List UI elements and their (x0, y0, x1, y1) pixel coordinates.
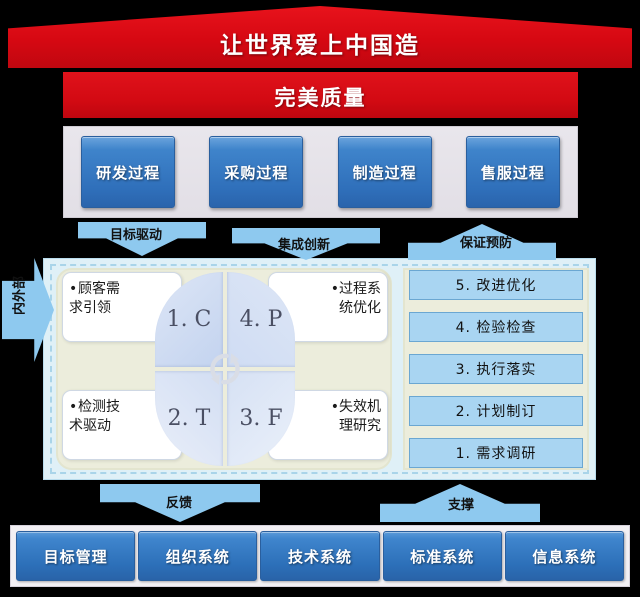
process-box-rd[interactable]: 研发过程 (81, 136, 175, 208)
guarantee-prevention-label: 保证预防 (460, 232, 512, 251)
support-label: 支撑 (448, 494, 474, 513)
diagram-canvas: 让世界爱上中国造 完美质量 研发过程 采购过程 制造过程 售服过程 目标驱动 集… (0, 0, 640, 597)
slogan-text: 让世界爱上中国造 (0, 26, 640, 60)
bullet-icon: • (69, 398, 78, 417)
process-strip: 研发过程 采购过程 制造过程 售服过程 (63, 126, 578, 218)
step-3-execution[interactable]: 3. 执行落实 (409, 354, 583, 384)
bullet-icon: • (330, 398, 339, 417)
step-2-plan-making[interactable]: 2. 计划制订 (409, 396, 583, 426)
step-5-improvement[interactable]: 5. 改进优化 (409, 270, 583, 300)
cycle-card-tl-line2: 求引领 (69, 300, 111, 316)
foundation-box-organization-system[interactable]: 组织系统 (138, 531, 257, 581)
step-1-demand-research[interactable]: 1. 需求调研 (409, 438, 583, 468)
internal-external-label: 内外部 (9, 266, 28, 326)
pdca-steps-list: 1. 需求调研 2. 计划制订 3. 执行落实 4. 检验检查 5. 改进优化 (409, 270, 583, 468)
process-box-purchase[interactable]: 采购过程 (209, 136, 303, 208)
cycle-card-tr-line2: 统优化 (339, 300, 381, 316)
cycle-card-tl-line1: 顾客需 (78, 281, 120, 297)
goal-driven-label: 目标驱动 (110, 224, 162, 243)
process-box-service[interactable]: 售服过程 (466, 136, 560, 208)
step-4-inspection[interactable]: 4. 检验检查 (409, 312, 583, 342)
cycle-card-br-line1: 失效机 (339, 399, 381, 415)
foundation-box-information-system[interactable]: 信息系统 (505, 531, 624, 581)
cycle-card-br-line2: 理研究 (339, 418, 381, 434)
circular-cycle-arrow-icon (204, 348, 246, 390)
process-box-manufacture[interactable]: 制造过程 (338, 136, 432, 208)
bullet-icon: • (330, 280, 339, 299)
feedback-label: 反馈 (166, 492, 192, 511)
cycle-card-tr-line1: 过程系 (339, 281, 381, 297)
ctfp-cycle-circle: 1. C 4. P 2. T 3. F (155, 272, 295, 466)
foundation-strip: 目标管理 组织系统 技术系统 标准系统 信息系统 (10, 525, 630, 587)
foundation-box-goal-management[interactable]: 目标管理 (16, 531, 135, 581)
bullet-icon: • (69, 280, 78, 299)
cycle-card-bl-line2: 术驱动 (69, 418, 111, 434)
foundation-box-technology-system[interactable]: 技术系统 (260, 531, 379, 581)
cycle-card-bl-line1: 检测技 (78, 399, 120, 415)
foundation-box-standard-system[interactable]: 标准系统 (383, 531, 502, 581)
integrated-innovation-label: 集成创新 (278, 234, 330, 253)
quality-bar: 完美质量 (63, 72, 578, 118)
quality-bar-label: 完美质量 (63, 82, 578, 112)
